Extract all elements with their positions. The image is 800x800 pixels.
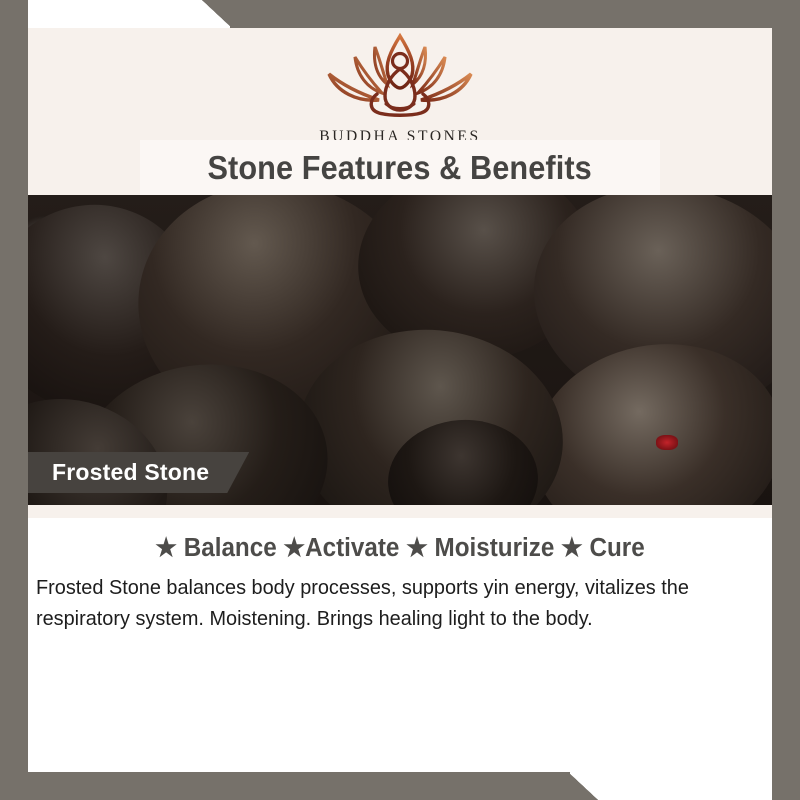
frame-border-bottom [0,772,570,800]
header-section: BUDDHA STONES Stone Features & Benefits [28,28,772,195]
lotus-meditation-icon [311,30,489,126]
frame-border-left [0,0,28,800]
title-banner: Stone Features & Benefits [140,140,660,195]
infographic-page: BUDDHA STONES Stone Features & Benefits … [0,0,800,800]
description-text: Frosted Stone balances body processes, s… [36,572,742,634]
accent-strip [28,505,772,518]
stone-name-label: Frosted Stone [52,459,209,486]
stone-red-accent [656,435,678,450]
page-title: Stone Features & Benefits [208,149,592,187]
content-canvas: BUDDHA STONES Stone Features & Benefits … [28,28,772,772]
frame-corner-diagonal-bottom [568,772,598,800]
frame-corner-diagonal-top [202,0,232,28]
description-section: ★ Balance ★Activate ★ Moisturize ★ Cure … [28,505,772,772]
benefits-list: ★ Balance ★Activate ★ Moisturize ★ Cure [47,533,754,563]
stone-name-badge: Frosted Stone [28,452,249,493]
frame-border-right [772,0,800,800]
frame-border-top [230,0,800,28]
stone-photo: Frosted Stone [28,195,772,505]
brand-logo: BUDDHA STONES [28,30,772,146]
